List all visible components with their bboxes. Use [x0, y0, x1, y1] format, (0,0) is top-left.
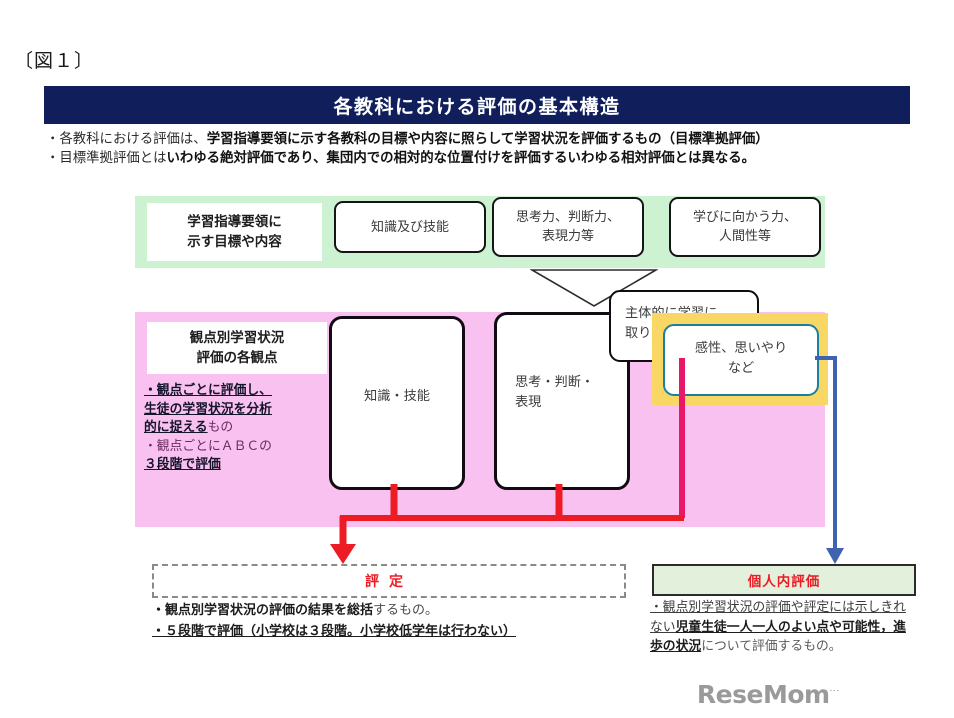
watermark-sup: ᐧᐧᐧ	[830, 687, 840, 696]
curriculum-label-line1: 学習指導要領に	[187, 212, 282, 232]
blue-arrowhead-icon	[826, 548, 844, 564]
hyoutei-notes: ・観点別学習状況の評価の結果を総括するもの。 ・５段階で評価（小学校は３段階。小…	[152, 600, 622, 642]
top-bullet-1-plain: ・各教科における評価は、	[46, 132, 207, 147]
box-knowledge-and-skills-label: 知識及び技能	[371, 218, 449, 237]
box-sensitivity-line2: など	[728, 361, 754, 376]
top-bullet-2-plain: ・目標準拠評価とは	[46, 151, 167, 166]
viewpoint-note-2: 生徒の学習状況を分析	[144, 401, 334, 420]
box-attitude-toward-learning: 学びに向かう力、 人間性等	[669, 197, 821, 257]
diagram-slide: 各教科における評価の基本構造 ・各教科における評価は、学習指導要領に示す各教科の…	[44, 86, 910, 698]
viewpoint-note-4: ・観点ごとにＡＢＣの	[144, 438, 334, 457]
kojin-nai-title: 個人内評価	[654, 570, 914, 590]
resemom-watermark: ReseMomᐧᐧᐧ	[697, 680, 840, 709]
box-sensitivity-label: 感性、思いやり など	[665, 339, 817, 379]
box-thinking-judgement-line1: 思考・判断・	[515, 375, 594, 390]
kojin-note-3-plain: について評価す	[701, 639, 790, 654]
box-knowledge-skills: 知識・技能	[329, 316, 465, 490]
viewpoint-note-1: ・観点ごとに評価し、	[144, 382, 334, 401]
curriculum-label: 学習指導要領に 示す目標や内容	[147, 203, 322, 261]
kojin-nai-notes: ・観点別学習状況の評価や評定には示しきれない児童生徒一人一人のよい点や可能性，進…	[650, 598, 918, 657]
slide-canvas: 〔図１〕 各教科における評価の基本構造 ・各教科における評価は、学習指導要領に示…	[0, 0, 954, 718]
hyoutei-note-2: ・５段階で評価（小学校は３段階。小学校低学年は行わない）	[152, 621, 622, 642]
viewpoint-label-line1: 観点別学習状況	[190, 328, 285, 348]
kojin-nai-hyouka-box: 個人内評価	[652, 564, 916, 596]
hyoutei-note-1-bold: ・観点別学習状況の評価の結果を総括	[152, 603, 373, 618]
box-sensitivity-line1: 感性、思いやり	[695, 341, 787, 356]
diagram-title-bar: 各教科における評価の基本構造	[44, 86, 910, 124]
hyoutei-note-1: ・観点別学習状況の評価の結果を総括するもの。	[152, 600, 622, 621]
watermark-text: ReseMom	[697, 680, 830, 709]
figure-caption: 〔図１〕	[14, 46, 94, 73]
box-thinking-ability-line2: 表現力等	[542, 229, 594, 244]
diagram-title: 各教科における評価の基本構造	[333, 92, 620, 119]
viewpoint-note-3-plain: もの	[208, 420, 234, 435]
box-thinking-ability-line1: 思考力、判断力、	[516, 210, 620, 225]
box-thinking-judgement-expression-ability: 思考力、判断力、 表現力等	[492, 197, 644, 257]
top-bullet-2-bold: いわゆる絶対評価であり、集団内での相対的な位置付けを評価するいわゆる相対評価とは…	[167, 151, 756, 166]
kojin-note-4: るもの。	[790, 639, 841, 654]
red-arrowhead-icon	[330, 544, 356, 564]
top-bullet-line-2: ・目標準拠評価とはいわゆる絶対評価であり、集団内での相対的な位置付けを評価するい…	[46, 149, 910, 168]
box-sensitivity-compassion: 感性、思いやり など	[663, 324, 819, 396]
box-knowledge-skills-label: 知識・技能	[332, 387, 462, 407]
kojin-note-1: ・観点別学習状況の評価や評定には示	[650, 600, 868, 615]
viewpoint-note-3: 的に捉えるもの	[144, 419, 334, 438]
hyoutei-box: 評定	[152, 564, 626, 598]
viewpoint-note-5: ３段階で評価	[144, 456, 334, 475]
curriculum-label-line2: 示す目標や内容	[187, 232, 282, 252]
hyoutei-note-1-plain: するもの。	[373, 603, 438, 618]
box-thinking-judgement-label: 思考・判断・ 表現	[515, 373, 627, 413]
top-bullets: ・各教科における評価は、学習指導要領に示す各教科の目標や内容に照らして学習状況を…	[46, 130, 910, 168]
box-knowledge-and-skills: 知識及び技能	[334, 201, 486, 253]
box-thinking-ability-label: 思考力、判断力、 表現力等	[516, 208, 620, 246]
viewpoint-label: 観点別学習状況 評価の各観点	[147, 322, 327, 374]
box-thinking-judgement-line2: 表現	[515, 395, 541, 410]
top-bullet-line-1: ・各教科における評価は、学習指導要領に示す各教科の目標や内容に照らして学習状況を…	[46, 130, 910, 149]
viewpoint-notes: ・観点ごとに評価し、 生徒の学習状況を分析 的に捉えるもの ・観点ごとにＡＢＣの…	[144, 382, 334, 475]
viewpoint-note-3-bold: 的に捉える	[144, 420, 208, 435]
box-attitude-learning-line2: 人間性等	[719, 229, 771, 244]
top-bullet-1-bold: 学習指導要領に示す各教科の目標や内容に照らして学習状況を評価するもの（目標準拠評…	[207, 132, 769, 147]
box-attitude-learning-line1: 学びに向かう力、	[693, 210, 797, 225]
box-attitude-learning-label: 学びに向かう力、 人間性等	[693, 208, 797, 246]
hyoutei-title: 評定	[154, 571, 624, 591]
viewpoint-label-line2: 評価の各観点	[197, 348, 278, 368]
kojin-note-2-b: 児童生徒一人一人のよい点	[676, 620, 830, 635]
